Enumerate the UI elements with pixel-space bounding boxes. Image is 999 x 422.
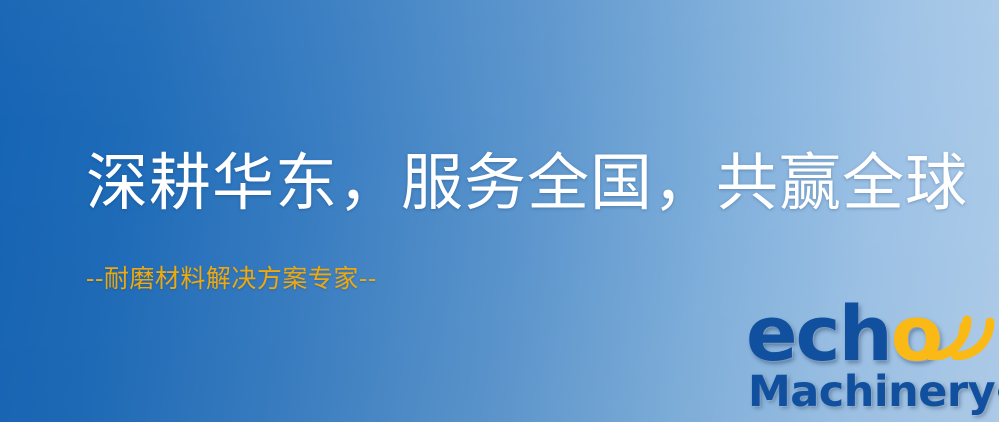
registered-trademark-icon: ® — [995, 381, 999, 405]
hero-banner: 深耕华东，服务全国，共赢全球 --耐磨材料解决方案专家-- echo Machi… — [0, 0, 999, 422]
logo-tagline: Machinery® — [748, 369, 999, 416]
banner-subtitle: --耐磨材料解决方案专家-- — [86, 264, 377, 294]
banner-headline: 深耕华东，服务全国，共赢全球 — [86, 150, 968, 217]
company-logo[interactable]: echo Machinery® — [742, 296, 999, 422]
signal-waves-icon — [928, 294, 999, 360]
logo-wordmark-primary: ech — [746, 289, 891, 378]
logo-tagline-text: Machinery — [748, 367, 995, 417]
logo-wordmark: echo — [746, 296, 941, 372]
